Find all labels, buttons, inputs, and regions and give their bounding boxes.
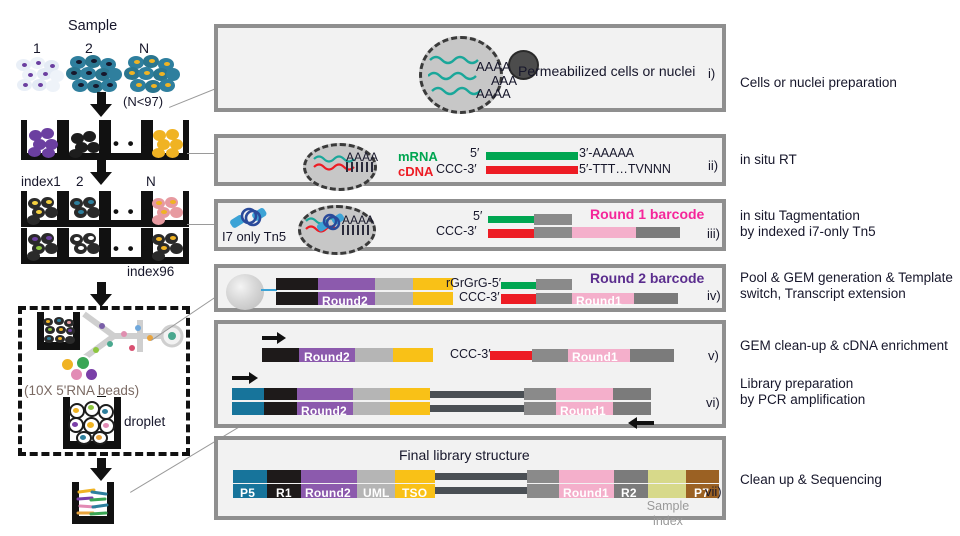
primer-arrow-icon-v <box>262 332 286 344</box>
index96-label: index96 <box>127 264 174 279</box>
round1-segment-top-vi <box>556 388 613 400</box>
round2-segment-top-vii <box>301 470 357 483</box>
r1-label: R1 <box>276 486 292 500</box>
round1-barcode-segment-iii <box>572 227 636 238</box>
round1-barcode-label: Round 1 barcode <box>590 206 704 222</box>
r1-segment-top-iv <box>276 278 318 290</box>
me-segment-top-vi <box>524 388 556 400</box>
me-segment-top-iii <box>534 214 572 225</box>
sample-number-n: N <box>139 40 149 56</box>
panel-vii: Final library structure P5 R1 Round2 UML… <box>214 436 726 520</box>
bead-tether-iv <box>261 289 277 291</box>
panel-ii: AAAA mRNA cDNA 5′ 3′-AAAAA CCC-3′ 5′-TTT… <box>214 134 726 186</box>
five-prime-iii: 5′ <box>473 209 482 223</box>
sample-index-segment-top-vii <box>648 470 686 483</box>
pooled-cells-content <box>42 317 76 346</box>
round2-label-v: Round2 <box>304 350 350 364</box>
r2-segment-top-vii <box>614 470 648 483</box>
round1-label-v: Round1 <box>572 350 618 364</box>
me-segment-top-vii <box>527 470 559 483</box>
p5-segment-top-vi <box>232 388 264 400</box>
cdna-strand-iii <box>488 229 534 238</box>
uml-label: UML <box>363 486 390 500</box>
sample-number-1: 1 <box>33 40 41 56</box>
panel-iii: I7 only Tn5 AAAA 5′ CCC-3′ <box>214 199 726 251</box>
round2-label-vi: Round2 <box>301 404 347 418</box>
rna-beads-label: (10X 5'RNA beads) <box>24 383 139 398</box>
primer-arrow-icon-vi-rev <box>628 417 654 429</box>
five-prime-ii: 5′ <box>470 146 479 160</box>
polya-tail-1: AAAA <box>476 59 511 74</box>
round2-segment-top-vi <box>297 388 353 400</box>
round2-segment-top-iv <box>318 278 375 290</box>
me-segment-bot-vi <box>524 402 556 415</box>
insert-bot-vi <box>430 405 524 412</box>
panel-iii-roman: iii) <box>707 226 720 241</box>
ccc-three-iv: CCC-3′ <box>459 290 500 304</box>
ccc-three-iii: CCC-3′ <box>436 224 477 238</box>
tn5-label: I7 only Tn5 <box>222 229 286 244</box>
gel-bead-icon <box>226 274 264 310</box>
final-library-title: Final library structure <box>399 447 530 463</box>
droplet-label: droplet <box>124 414 165 429</box>
sample-label: Sample <box>68 18 117 34</box>
mrna-strand-ii <box>486 152 578 160</box>
i7-segment-v <box>630 349 674 362</box>
me-segment-top-iv <box>536 279 572 290</box>
round1-segment-top-vii <box>559 470 614 483</box>
library-fragments-icon <box>76 486 110 521</box>
uml-segment-top-vi <box>353 388 390 400</box>
round1-label-iv: Round1 <box>576 294 622 308</box>
sample-index-segment-bot-vii <box>648 484 686 498</box>
i7-segment-iii <box>636 227 680 238</box>
cdna-strand-v <box>490 351 535 360</box>
me-segment-bot-iii <box>534 227 572 238</box>
tso-segment-bot-vi <box>390 402 430 415</box>
r2-label: R2 <box>621 486 637 500</box>
uml-segment-v <box>355 348 393 362</box>
uml-segment-bot-iv <box>375 292 413 305</box>
cell-cluster-n <box>124 55 180 95</box>
step-label-i: Cells or nuclei preparation <box>740 75 897 91</box>
step-label-iv: Pool & GEM generation & Template switch,… <box>740 270 953 302</box>
cdna-strand-ii <box>486 166 578 174</box>
step-label-vii: Clean up & Sequencing <box>740 472 882 488</box>
i7-segment-iv <box>634 293 678 304</box>
uml-segment-top-iv <box>375 278 413 290</box>
tn5-transposase-icon <box>228 205 270 231</box>
tso-label: TSO <box>402 486 427 500</box>
panel-vi-roman: vi) <box>706 395 720 410</box>
rgrgrg-label-iv: rGrGrG-5′ <box>446 276 501 290</box>
r1-segment-top-vii <box>267 470 301 483</box>
three-prime-aaaaa-ii: 3′-AAAAA <box>579 146 634 160</box>
mrna-strand-iii <box>488 216 534 223</box>
n-constraint-label: (N<97) <box>123 94 163 109</box>
ccc-three-ii: CCC-3′ <box>436 162 477 176</box>
indexN-label: N <box>146 174 156 189</box>
step-label-ii: in situ RT <box>740 152 797 168</box>
droplet-content <box>68 401 116 445</box>
microfluidic-chip-icon <box>80 308 188 370</box>
panel-iv-roman: iv) <box>707 288 721 303</box>
p7-segment-top-vii <box>686 470 719 483</box>
uml-segment-bot-vi <box>353 402 390 415</box>
r1-segment-top-vi <box>264 388 297 400</box>
r1-segment-bot-iv <box>276 292 318 305</box>
me-segment-v <box>532 349 568 362</box>
p5-segment-bot-vi <box>232 402 264 415</box>
panel-i-roman: i) <box>708 66 715 81</box>
r1-segment-bot-vi <box>264 402 297 415</box>
round1-label-vii: Round1 <box>563 486 609 500</box>
cell-cluster-2 <box>66 55 122 95</box>
insert-top-vi <box>430 391 524 398</box>
tso-segment-v <box>393 348 433 362</box>
step-label-vi: Library preparation by PCR amplification <box>740 376 865 408</box>
panel-v-roman: v) <box>708 348 719 363</box>
panel-v-vi: Round2 CCC-3′ Round1 v) Round2 <box>214 320 726 428</box>
tso-segment-top-vii <box>395 470 435 483</box>
round1-label-vi: Round1 <box>560 404 606 418</box>
step-label-v: GEM clean-up & cDNA enrichment <box>740 338 948 354</box>
panel-vii-roman: vii) <box>705 484 722 499</box>
r1-segment-v <box>262 348 299 362</box>
mrna-legend-label: mRNA <box>398 149 438 164</box>
sample-index-label: Sample index <box>642 499 694 529</box>
p5-segment-top-vii <box>233 470 267 483</box>
tso-segment-top-vi <box>390 388 430 400</box>
insert-bot-vii <box>435 487 527 494</box>
primer-arrow-icon-vi-fwd <box>232 372 258 384</box>
me-segment-bot-vii <box>527 484 559 498</box>
index1-label: index1 <box>21 174 61 189</box>
round2-barcode-label: Round 2 barcode <box>590 270 704 286</box>
p5-label: P5 <box>240 486 255 500</box>
tso-segment-bot-iv <box>413 292 453 305</box>
panel-i: AAAA AAA AAAA Permeabilized cells or nuc… <box>214 24 726 112</box>
sample-number-2: 2 <box>85 40 93 56</box>
index2-label: 2 <box>76 174 84 189</box>
uml-segment-top-vii <box>357 470 395 483</box>
me-segment-bot-iv <box>536 293 572 304</box>
step-label-iii: in situ Tagmentation by indexed i7-only … <box>740 208 876 240</box>
cdna-legend-label: cDNA <box>398 164 433 179</box>
panel-ii-roman: ii) <box>708 158 718 173</box>
round2-label-vii: Round2 <box>305 486 351 500</box>
five-prime-ttt-ii: 5′-TTT…TVNNN <box>579 162 671 176</box>
round2-label-iv: Round2 <box>322 294 368 308</box>
panel-iv: Round2 rGrGrG-5′ CCC-3′ Round1 Round 2 b… <box>214 264 726 312</box>
r2-segment-top-vi <box>613 388 651 400</box>
panel-i-caption: Permeabilized cells or nuclei <box>518 63 695 79</box>
r2-segment-bot-vi <box>613 402 651 415</box>
polya-tail-3: AAAA <box>476 86 511 101</box>
figure-canvas: Sample 1 2 N <box>0 0 960 536</box>
cell-cluster-1 <box>14 57 66 93</box>
ccc-three-v: CCC-3′ <box>450 347 491 361</box>
insert-top-vii <box>435 473 527 480</box>
